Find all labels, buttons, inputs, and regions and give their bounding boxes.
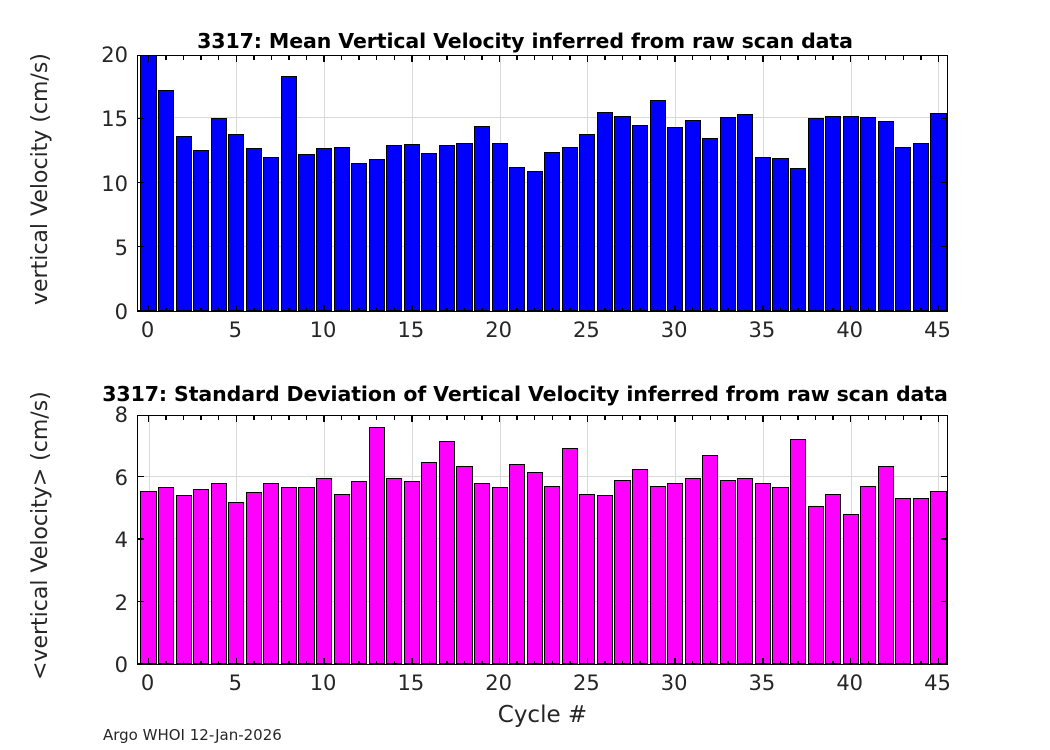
x-axis-tick: [376, 416, 377, 420]
bar: [334, 147, 350, 311]
bar: [509, 464, 525, 664]
bar: [193, 489, 209, 664]
x-axis-tick: [674, 416, 675, 422]
x-axis-tick: [516, 56, 517, 60]
x-axis-tick: [780, 308, 781, 312]
x-axis-tick: [236, 416, 237, 422]
bar: [737, 114, 753, 311]
x-axis-tick: [394, 56, 395, 60]
x-tick-label: 0: [141, 671, 154, 695]
bar: [544, 152, 560, 311]
x-axis-tick: [218, 308, 219, 312]
bar: [772, 487, 788, 664]
y-tick-labels-mean-velocity: 05101520: [82, 55, 128, 312]
x-axis-tick: [200, 56, 201, 60]
y-tick-label: 0: [115, 653, 128, 677]
bar: [492, 487, 508, 664]
y-axis-tick: [941, 310, 947, 311]
x-axis-tick: [481, 661, 482, 665]
bar: [579, 134, 595, 311]
x-axis-tick: [341, 56, 342, 60]
x-axis-tick: [429, 661, 430, 665]
x-axis-tick: [516, 661, 517, 665]
bar: [439, 145, 455, 311]
x-axis-tick: [639, 56, 640, 60]
x-axis-tick: [183, 661, 184, 665]
bar: [228, 502, 244, 665]
x-axis-tick: [762, 416, 763, 422]
x-axis-tick: [552, 56, 553, 60]
x-axis-tick: [165, 416, 166, 420]
x-axis-tick: [411, 56, 412, 62]
x-tick-label: 45: [924, 318, 951, 342]
x-axis-tick: [710, 416, 711, 420]
x-axis-tick: [481, 416, 482, 420]
x-axis-tick: [710, 56, 711, 60]
x-axis-tick: [253, 308, 254, 312]
bar: [720, 117, 736, 311]
x-axis-tick: [903, 416, 904, 420]
x-axis-tick: [499, 56, 500, 62]
x-tick-label: 30: [661, 318, 688, 342]
bar: [614, 480, 630, 664]
x-axis-tick: [832, 56, 833, 60]
bar: [474, 483, 490, 664]
x-axis-tick: [604, 56, 605, 60]
bar: [298, 154, 314, 311]
x-tick-label: 40: [836, 671, 863, 695]
bar: [930, 491, 946, 664]
bar: [650, 100, 666, 311]
x-axis-tick: [622, 56, 623, 60]
x-axis-tick: [306, 56, 307, 60]
bar: [527, 472, 543, 664]
bar-series-std-velocity: [138, 416, 947, 664]
x-axis-tick: [306, 308, 307, 312]
bar: [246, 148, 262, 311]
x-axis-tick: [885, 416, 886, 420]
x-tick-label: 10: [310, 671, 337, 695]
x-axis-tick: [587, 305, 588, 311]
x-tick-label: 5: [229, 318, 242, 342]
y-axis-tick: [941, 118, 947, 119]
x-axis-tick: [727, 56, 728, 60]
x-axis-tick: [797, 308, 798, 312]
x-axis-tick: [692, 308, 693, 312]
x-axis-tick: [253, 416, 254, 420]
x-axis-tick: [481, 308, 482, 312]
x-tick-label: 30: [661, 671, 688, 695]
bar: [316, 478, 332, 664]
bar: [544, 486, 560, 664]
bar: [597, 112, 613, 311]
chart-title-mean-velocity: 3317: Mean Vertical Velocity inferred fr…: [0, 29, 1050, 53]
x-axis-tick: [692, 56, 693, 60]
bar: [667, 483, 683, 664]
x-axis-tick: [587, 56, 588, 62]
bar: [439, 441, 455, 664]
bar: [562, 147, 578, 311]
x-axis-tick: [674, 305, 675, 311]
x-axis-tick: [745, 56, 746, 60]
bar: [351, 481, 367, 664]
x-axis-tick: [358, 661, 359, 665]
x-axis-tick: [236, 56, 237, 62]
x-axis-tick: [411, 305, 412, 311]
bar: [158, 90, 174, 311]
x-axis-tick: [429, 308, 430, 312]
x-axis-tick: [446, 416, 447, 420]
x-axis-tick: [218, 56, 219, 60]
x-axis-tick: [587, 416, 588, 422]
x-axis-tick: [762, 56, 763, 62]
y-axis-tick: [138, 538, 144, 539]
x-axis-tick: [394, 308, 395, 312]
bar: [614, 116, 630, 311]
x-axis-tick: [815, 416, 816, 420]
x-axis-tick: [762, 305, 763, 311]
x-axis-tick: [674, 658, 675, 664]
x-axis-tick: [920, 308, 921, 312]
bar: [404, 144, 420, 311]
x-axis-tick: [411, 416, 412, 422]
bar: [509, 167, 525, 311]
x-axis-tick: [815, 56, 816, 60]
x-axis-tick: [464, 661, 465, 665]
chart-title-std-velocity: 3317: Standard Deviation of Vertical Vel…: [0, 382, 1050, 406]
x-axis-tick: [499, 658, 500, 664]
bar: [193, 150, 209, 311]
x-axis-tick: [552, 308, 553, 312]
y-tick-label: 8: [115, 403, 128, 427]
x-axis-tick: [657, 416, 658, 420]
x-axis-tick: [780, 416, 781, 420]
x-axis-tick: [868, 661, 869, 665]
bar: [316, 148, 332, 311]
x-tick-label: 35: [749, 318, 776, 342]
y-axis-tick: [138, 663, 144, 664]
x-axis-tick: [797, 416, 798, 420]
x-tick-label: 15: [397, 671, 424, 695]
x-axis-tick: [674, 56, 675, 62]
x-axis-tick: [885, 308, 886, 312]
bar: [755, 157, 771, 311]
bar: [685, 120, 701, 311]
bar: [720, 480, 736, 664]
x-axis-tick: [358, 416, 359, 420]
bar: [421, 153, 437, 311]
bar: [895, 147, 911, 311]
y-tick-label: 0: [115, 300, 128, 324]
y-axis-tick: [138, 476, 144, 477]
bar-series-mean-velocity: [138, 56, 947, 311]
y-axis-tick: [941, 601, 947, 602]
bar: [140, 491, 156, 664]
x-axis-tick: [850, 416, 851, 422]
x-axis-tick: [534, 56, 535, 60]
x-tick-label: 20: [485, 671, 512, 695]
x-axis-tick: [376, 56, 377, 60]
x-tick-label: 0: [141, 318, 154, 342]
x-axis-tick: [780, 661, 781, 665]
bar: [667, 127, 683, 311]
bar: [930, 113, 946, 311]
bar: [772, 158, 788, 311]
x-axis-tick: [639, 661, 640, 665]
y-axis-tick: [941, 663, 947, 664]
x-axis-tick: [622, 416, 623, 420]
x-axis-tick: [271, 661, 272, 665]
x-axis-tick: [183, 416, 184, 420]
bar: [211, 118, 227, 311]
x-axis-tick: [639, 308, 640, 312]
bar: [597, 495, 613, 664]
bar: [632, 469, 648, 664]
x-axis-tick: [850, 658, 851, 664]
argo-velocity-figure: 3317: Mean Vertical Velocity inferred fr…: [0, 0, 1050, 750]
x-axis-tick: [165, 56, 166, 60]
x-axis-tick: [938, 658, 939, 664]
bar: [632, 125, 648, 311]
x-axis-tick: [780, 56, 781, 60]
bar: [281, 487, 297, 664]
bar: [298, 487, 314, 664]
bar: [685, 478, 701, 664]
y-axis-label-mean-velocity: vertical Velocity (cm/s): [28, 53, 53, 305]
x-axis-tick: [323, 658, 324, 664]
x-axis-tick: [183, 56, 184, 60]
x-tick-label: 35: [749, 671, 776, 695]
bar: [808, 118, 824, 311]
x-axis-tick: [358, 308, 359, 312]
bar: [702, 138, 718, 311]
bar: [825, 116, 841, 311]
x-axis-tick: [710, 661, 711, 665]
y-tick-label: 15: [101, 107, 128, 131]
x-axis-tick: [920, 661, 921, 665]
x-axis-tick: [341, 308, 342, 312]
x-axis-tick: [183, 308, 184, 312]
x-axis-tick: [271, 56, 272, 60]
bar: [369, 159, 385, 311]
bar: [562, 448, 578, 664]
x-axis-tick: [762, 658, 763, 664]
bar: [421, 462, 437, 664]
x-axis-tick: [253, 661, 254, 665]
x-axis-tick: [165, 308, 166, 312]
bar: [843, 514, 859, 664]
x-axis-tick: [236, 658, 237, 664]
x-axis-tick: [604, 308, 605, 312]
x-tick-label: 45: [924, 671, 951, 695]
x-axis-tick: [832, 308, 833, 312]
x-axis-tick: [534, 308, 535, 312]
bar: [579, 494, 595, 664]
bar: [246, 492, 262, 664]
bar: [702, 455, 718, 664]
x-axis-tick: [446, 308, 447, 312]
bar: [334, 494, 350, 664]
y-axis-label-std-velocity: <vertical Velocity> (cm/s): [28, 391, 53, 680]
plot-area-mean-velocity: [137, 55, 948, 312]
x-axis-tick: [885, 661, 886, 665]
bar: [263, 157, 279, 311]
bar: [860, 117, 876, 311]
bar: [386, 478, 402, 664]
x-axis-tick: [920, 416, 921, 420]
x-tick-label: 20: [485, 318, 512, 342]
x-axis-tick: [604, 661, 605, 665]
x-axis-tick: [394, 416, 395, 420]
plot-panel-mean-velocity: 051015202530354045: [137, 55, 948, 312]
x-axis-tick: [306, 661, 307, 665]
y-axis-tick: [941, 182, 947, 183]
y-axis-tick: [138, 118, 144, 119]
x-axis-tick: [832, 661, 833, 665]
x-axis-tick: [868, 416, 869, 420]
bar: [737, 478, 753, 664]
y-axis-tick: [941, 538, 947, 539]
x-tick-label: 15: [397, 318, 424, 342]
x-axis-tick: [218, 661, 219, 665]
x-tick-label: 25: [573, 318, 600, 342]
x-axis-tick: [938, 416, 939, 422]
x-axis-tick: [323, 416, 324, 422]
y-tick-label: 10: [101, 172, 128, 196]
x-axis-tick: [148, 658, 149, 664]
x-tick-label: 40: [836, 318, 863, 342]
x-axis-tick: [516, 308, 517, 312]
x-axis-tick: [569, 661, 570, 665]
x-axis-tick: [323, 56, 324, 62]
bar: [878, 121, 894, 311]
bar: [281, 76, 297, 311]
y-axis-tick: [941, 476, 947, 477]
x-axis-tick: [815, 661, 816, 665]
x-axis-tick: [622, 661, 623, 665]
x-axis-tick: [236, 305, 237, 311]
x-axis-tick: [692, 661, 693, 665]
x-axis-tick: [710, 308, 711, 312]
bar: [650, 486, 666, 664]
x-axis-tick: [499, 305, 500, 311]
x-axis-tick: [358, 56, 359, 60]
bar: [263, 483, 279, 664]
x-axis-tick: [446, 56, 447, 60]
bar: [808, 506, 824, 664]
x-axis-tick: [323, 305, 324, 311]
x-axis-tick: [288, 661, 289, 665]
bar: [474, 126, 490, 311]
y-axis-tick: [138, 182, 144, 183]
x-axis-tick: [534, 416, 535, 420]
x-axis-tick: [569, 56, 570, 60]
bar: [456, 466, 472, 664]
x-axis-tick: [200, 661, 201, 665]
bar: [369, 427, 385, 665]
x-axis-tick: [797, 56, 798, 60]
x-axis-tick: [727, 661, 728, 665]
x-axis-tick: [411, 658, 412, 664]
bar: [825, 494, 841, 664]
x-axis-tick: [569, 308, 570, 312]
x-axis-tick: [587, 658, 588, 664]
x-axis-tick: [850, 305, 851, 311]
x-axis-tick: [148, 416, 149, 422]
x-axis-tick: [200, 416, 201, 420]
x-axis-tick: [271, 416, 272, 420]
x-axis-tick: [903, 56, 904, 60]
y-axis-tick: [138, 601, 144, 602]
x-axis-tick: [516, 416, 517, 420]
x-axis-tick: [745, 416, 746, 420]
y-tick-label: 20: [101, 43, 128, 67]
bar: [913, 498, 929, 664]
x-axis-tick: [253, 56, 254, 60]
x-axis-tick: [464, 56, 465, 60]
y-tick-label: 4: [115, 528, 128, 552]
x-axis-tick: [288, 416, 289, 420]
x-axis-tick: [165, 661, 166, 665]
x-axis-tick: [306, 416, 307, 420]
x-axis-tick: [938, 305, 939, 311]
y-axis-tick: [138, 310, 144, 311]
x-axis-tick: [604, 416, 605, 420]
bar: [913, 143, 929, 311]
x-axis-tick: [622, 308, 623, 312]
x-axis-tick: [341, 661, 342, 665]
x-axis-tick: [288, 56, 289, 60]
x-axis-tick: [481, 56, 482, 60]
bar: [878, 466, 894, 664]
x-axis-tick: [394, 661, 395, 665]
x-axis-tick: [868, 308, 869, 312]
x-axis-tick: [148, 305, 149, 311]
x-axis-tick: [376, 661, 377, 665]
bar: [755, 483, 771, 664]
x-axis-tick: [464, 416, 465, 420]
x-axis-tick: [797, 661, 798, 665]
footer-credit: Argo WHOI 12-Jan-2026: [103, 726, 282, 744]
x-axis-tick: [446, 661, 447, 665]
x-axis-tick: [903, 308, 904, 312]
plot-area-std-velocity: [137, 415, 948, 665]
x-axis-tick: [148, 56, 149, 62]
bar: [351, 163, 367, 311]
bar: [176, 495, 192, 664]
x-axis-tick: [832, 416, 833, 420]
x-axis-tick: [692, 416, 693, 420]
x-axis-tick: [657, 308, 658, 312]
y-tick-labels-std-velocity: 02468: [82, 415, 128, 665]
x-tick-label: 25: [573, 671, 600, 695]
bar: [211, 483, 227, 664]
bar: [790, 439, 806, 664]
x-axis-tick: [745, 661, 746, 665]
y-axis-tick: [138, 246, 144, 247]
x-axis-tick: [569, 416, 570, 420]
x-axis-tick: [464, 308, 465, 312]
x-axis-tick: [903, 661, 904, 665]
x-tick-label: 5: [229, 671, 242, 695]
bar: [492, 143, 508, 311]
x-axis-tick: [938, 56, 939, 62]
bar: [404, 481, 420, 664]
x-axis-tick: [429, 416, 430, 420]
x-axis-tick: [200, 308, 201, 312]
x-axis-tick: [920, 56, 921, 60]
y-tick-label: 6: [115, 466, 128, 490]
